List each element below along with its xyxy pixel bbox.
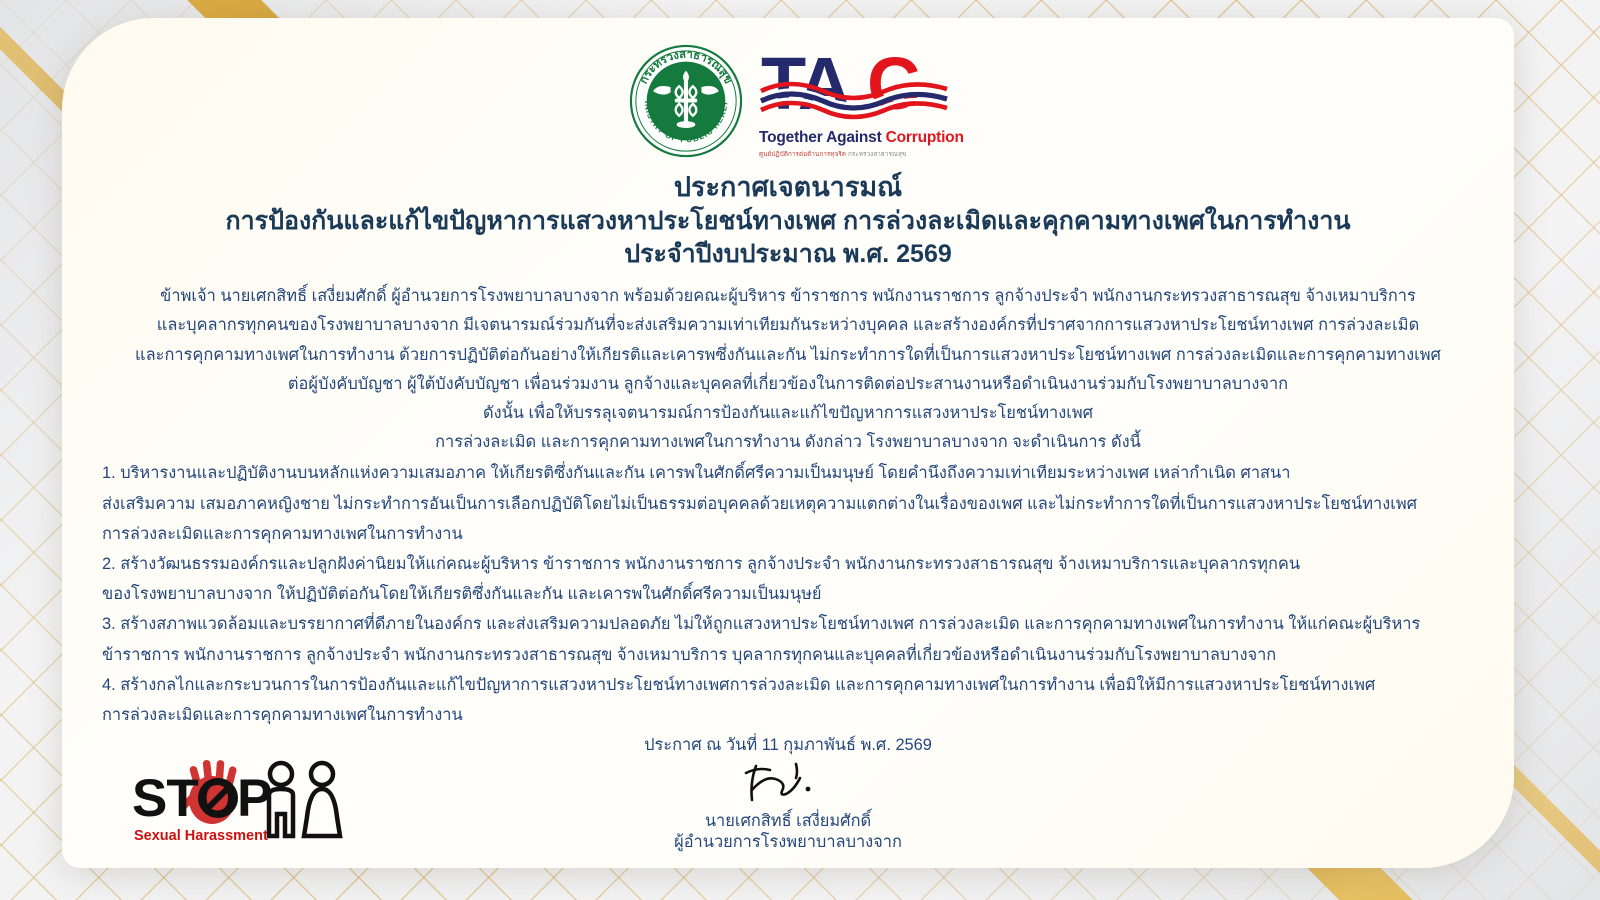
logo-row: กระทรวงสาธารณสุข MINISTRY OF PUBLIC HEAL… [102, 18, 1474, 166]
list-item: ข้าราชการ พนักงานราชการ ลูกจ้างประจำ พนั… [102, 641, 1474, 670]
signer-role: ผู้อำนวยการโรงพยาบาลบางจาก [102, 832, 1474, 853]
title-line-1: ประกาศเจตนารมณ์ [102, 170, 1474, 205]
document-card: กระทรวงสาธารณสุข MINISTRY OF PUBLIC HEAL… [62, 18, 1514, 868]
tac-letters-icon: TA C [759, 43, 949, 127]
document-footer: STOP Sexual Harassment [102, 736, 1474, 854]
tac-thai-red: ศูนย์ปฏิบัติการต่อต้านการทุจริต [759, 151, 848, 158]
intro-line-2: และบุคลากรทุกคนของโรงพยาบาลบางจาก มีเจตน… [102, 311, 1474, 340]
list-item: การล่วงละเมิดและการคุกคามทางเพศในการทำงา… [102, 701, 1474, 730]
intro-line-1: ข้าพเจ้า นายเศกสิทธิ์ เสงี่ยมศักดิ์ ผู้อ… [102, 282, 1474, 311]
tac-tagline-left: Together Against [759, 129, 886, 146]
purpose-line-2: การล่วงละเมิด และการคุกคามทางเพศในการทำง… [102, 428, 1474, 457]
tac-tagline: Together Against Corruption [759, 130, 949, 146]
signature-block: ประกาศ ณ วันที่ 11 กุมภาพันธ์ พ.ศ. 2569 … [102, 732, 1474, 852]
tac-tagline-right: Corruption [886, 129, 964, 146]
intro-line-4: ต่อผู้บังคับบัญชา ผู้ใต้บังคับบัญชา เพื่… [102, 370, 1474, 399]
handwritten-signature [708, 760, 868, 806]
ministry-of-public-health-emblem: กระทรวงสาธารณสุข MINISTRY OF PUBLIC HEAL… [627, 42, 745, 160]
list-item: การล่วงละเมิดและการคุกคามทางเพศในการทำงา… [102, 520, 1474, 549]
document-body: ข้าพเจ้า นายเศกสิทธิ์ เสงี่ยมศักดิ์ ผู้อ… [102, 282, 1474, 730]
list-item: 3. สร้างสภาพแวดล้อมและบรรยากาศที่ดีภายใน… [102, 610, 1474, 639]
commitment-list: 1. บริหารงานและปฏิบัติงานบนหลักแห่งความเ… [102, 459, 1474, 730]
tac-thai-grey: กระทรวงสาธารณสุข [848, 151, 906, 158]
announcement-page: กระทรวงสาธารณสุข MINISTRY OF PUBLIC HEAL… [0, 0, 1600, 900]
list-item: 4. สร้างกลไกและกระบวนการในการป้องกันและแ… [102, 671, 1474, 700]
tac-thai-subtitle: ศูนย์ปฏิบัติการต่อต้านการทุจริต กระทรวงส… [759, 149, 949, 159]
list-item: 1. บริหารงานและปฏิบัติงานบนหลักแห่งความเ… [102, 459, 1474, 488]
title-line-2: การป้องกันและแก้ไขปัญหาการแสวงหาประโยชน์… [102, 205, 1474, 238]
document-title: ประกาศเจตนารมณ์ การป้องกันและแก้ไขปัญหาก… [102, 170, 1474, 270]
list-item: 2. สร้างวัฒนธรรมองค์กรและปลูกฝังค่านิยมใ… [102, 550, 1474, 579]
intro-line-3: และการคุกคามทางเพศในการทำงาน ด้วยการปฏิบ… [102, 341, 1474, 370]
title-line-3: ประจำปีงบประมาณ พ.ศ. 2569 [102, 238, 1474, 271]
signer-name: นายเศกสิทธิ์ เสงี่ยมศักดิ์ [102, 811, 1474, 832]
purpose-line-1: ดังนั้น เพื่อให้บรรลุเจตนารมณ์การป้องกัน… [102, 399, 1474, 428]
list-item: ส่งเสริมความ เสมอภาคหญิงชาย ไม่กระทำการอ… [102, 490, 1474, 519]
announcement-date: ประกาศ ณ วันที่ 11 กุมภาพันธ์ พ.ศ. 2569 [102, 732, 1474, 758]
tac-logo: TA C Together Against Corruption ศูนย์ปฏ… [759, 43, 949, 158]
list-item: ของโรงพยาบาลบางจาก ให้ปฏิบัติต่อกันโดยให… [102, 580, 1474, 609]
